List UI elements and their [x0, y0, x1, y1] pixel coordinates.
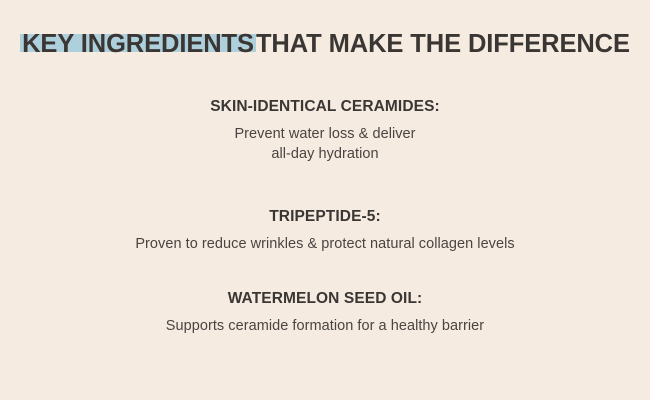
ingredient-block-tripeptide: TRIPEPTIDE-5: Proven to reduce wrinkles … [0, 206, 650, 254]
block-spacer [0, 164, 650, 206]
ingredient-description: Supports ceramide formation for a health… [0, 310, 650, 336]
ingredients-poster: KEY INGREDIENTS THAT MAKE THE DIFFERENCE… [0, 0, 650, 400]
page-title-highlighted-phrase: KEY INGREDIENTS [20, 30, 256, 58]
ingredient-heading: WATERMELON SEED OIL: [0, 288, 650, 310]
ingredient-description-line: Prevent water loss & deliver [0, 124, 650, 144]
ingredient-description: Proven to reduce wrinkles & protect natu… [0, 228, 650, 254]
ingredient-block-ceramides: SKIN-IDENTICAL CERAMIDES: Prevent water … [0, 96, 650, 164]
ingredient-description: Prevent water loss & deliver all-day hyd… [0, 118, 650, 164]
ingredient-heading: TRIPEPTIDE-5: [0, 206, 650, 228]
ingredient-block-watermelon-seed-oil: WATERMELON SEED OIL: Supports ceramide f… [0, 288, 650, 336]
ingredient-description-line: Proven to reduce wrinkles & protect natu… [0, 234, 650, 254]
page-title: KEY INGREDIENTS THAT MAKE THE DIFFERENCE [0, 30, 650, 58]
block-spacer [0, 254, 650, 288]
page-title-remainder: THAT MAKE THE DIFFERENCE [256, 30, 630, 58]
ingredient-description-line: Supports ceramide formation for a health… [0, 316, 650, 336]
ingredient-heading: SKIN-IDENTICAL CERAMIDES: [0, 96, 650, 118]
ingredients-list: SKIN-IDENTICAL CERAMIDES: Prevent water … [0, 96, 650, 336]
page-title-text: KEY INGREDIENTS THAT MAKE THE DIFFERENCE [20, 30, 630, 58]
ingredient-description-line: all-day hydration [0, 144, 650, 164]
